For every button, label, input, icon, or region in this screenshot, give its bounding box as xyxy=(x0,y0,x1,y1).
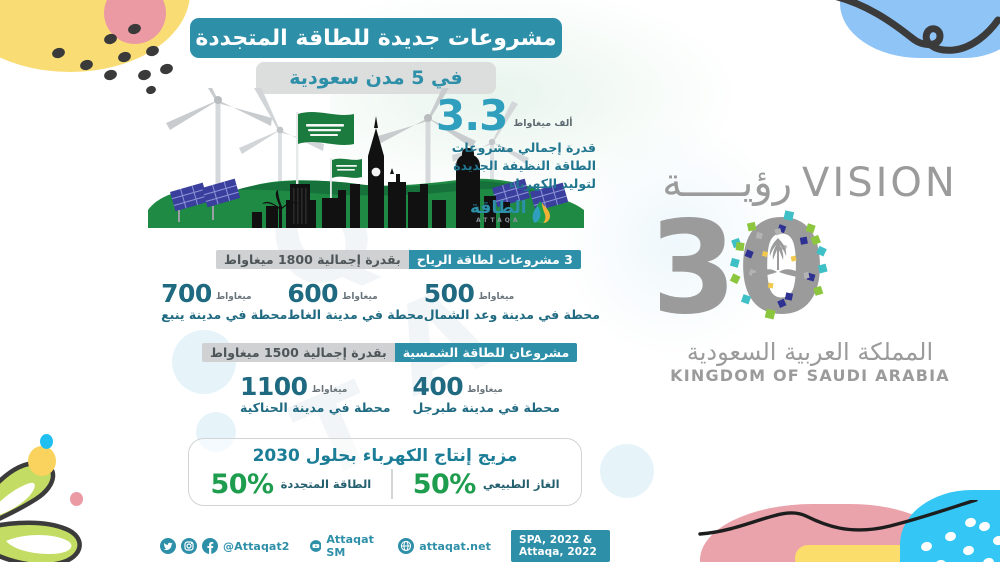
section-label-wind: 3 مشروعات لطاقة الرياح بقدرة إجمالية 180… xyxy=(216,250,581,269)
vision-kingdom-ar: المملكة العربية السعودية xyxy=(660,338,960,366)
stat-place: محطة في مدينة وعد الشمال xyxy=(424,307,600,322)
decor-white-dots-bottomright xyxy=(905,512,1000,562)
decor-pink-blob-bottomright xyxy=(700,504,950,562)
website-link[interactable]: attaqat.net xyxy=(419,540,491,553)
infographic-canvas: Q A T مشروعات جديدة xyxy=(0,0,1000,562)
section-wind-title: 3 مشروعات لطاقة الرياح xyxy=(409,250,581,269)
decor-curl-line-topright xyxy=(830,0,1000,64)
hero-number: 3.3 xyxy=(436,96,507,136)
vision-word-en: VISION xyxy=(802,160,958,206)
stat-yanbu: ميغاواط 700 محطة في مدينة ينبع xyxy=(161,282,287,322)
footer-youtube-group[interactable]: Attaqat SM xyxy=(310,533,379,559)
hero-stat: ألف ميغاواط 3.3 قدرة إجمالي مشروعات الطا… xyxy=(436,96,596,193)
stat-place: محطة في مدينة الحناكية xyxy=(240,400,390,415)
mix-item-renewable: الطاقة المتجددة 50% xyxy=(190,471,391,498)
stat-waad-al-shamal: ميغاواط 500 محطة في مدينة وعد الشمال xyxy=(424,282,600,322)
footer-social-group[interactable]: @Attaqat2 xyxy=(160,538,290,554)
hero-desc-line-1: قدرة إجمالي مشروعات xyxy=(436,139,596,157)
svg-text:30: 30 xyxy=(660,202,826,332)
decor-cyan-dot-bottomleft xyxy=(40,434,53,449)
stat-unit: ميغاواط xyxy=(478,292,514,306)
stat-place: محطة في مدينة الغاط xyxy=(287,307,423,322)
decor-blue-blob-topright xyxy=(840,0,1000,58)
globe-icon[interactable] xyxy=(398,538,414,554)
decor-yellow-dot-bottomleft xyxy=(28,446,56,476)
stat-value: 700 xyxy=(161,282,212,306)
attaqa-logo: الطاقة ATTAQA xyxy=(470,200,551,224)
stat-unit: ميغاواط xyxy=(312,385,348,399)
stat-al-hinakiyah: ميغاواط 1100 محطة في مدينة الحناكية xyxy=(240,375,390,415)
stat-value: 400 xyxy=(412,375,463,399)
section-wind-subtitle: بقدرة إجمالية 1800 ميغاواط xyxy=(216,250,409,269)
vision-year-2030: 2 30 xyxy=(660,202,960,332)
stat-value: 600 xyxy=(287,282,338,306)
stat-unit: ميغاواط xyxy=(342,292,378,306)
decor-pink-dot-bottomleft xyxy=(70,492,83,506)
hero-desc-line-2: الطاقة النظيفة الجديدة xyxy=(436,157,596,175)
stat-place: محطة في مدينة ينبع xyxy=(161,307,287,322)
page-title: مشروعات جديدة للطاقة المتجددة xyxy=(190,18,562,58)
mix-title: مزيج إنتاج الكهرباء بحلول 2030 xyxy=(189,446,581,466)
stat-value: 1100 xyxy=(240,375,308,399)
section-solar-title: مشروعان للطاقة الشمسية xyxy=(395,343,578,362)
stat-place: محطة في مدينة طبرجل xyxy=(412,400,560,415)
stat-value: 500 xyxy=(424,282,475,306)
main-content-column: مشروعات جديدة للطاقة المتجددة في 5 مدن س… xyxy=(140,0,610,562)
source-badge: SPA, 2022 & Attaqa, 2022 xyxy=(511,530,610,562)
wind-stats-row: ميغاواط 500 محطة في مدينة وعد الشمال ميغ… xyxy=(170,282,600,322)
mix-percent: 50% xyxy=(413,471,476,498)
section-label-solar: مشروعان للطاقة الشمسية بقدرة إجمالية 150… xyxy=(202,343,577,362)
electricity-mix-box: مزيج إنتاج الكهرباء بحلول 2030 الغاز الط… xyxy=(188,438,582,506)
vision-2030-logo: VISION رؤيـــــة 2 30 xyxy=(660,160,960,400)
vision-kingdom-en: KINGDOM OF SAUDI ARABIA xyxy=(660,366,960,385)
stat-al-ghat: ميغاواط 600 محطة في مدينة الغاط xyxy=(287,282,423,322)
mix-label: الغاز الطبيعي xyxy=(483,477,560,491)
vision-word-ar: رؤيـــــة xyxy=(662,160,792,206)
youtube-handle[interactable]: Attaqat SM xyxy=(326,533,378,559)
footer-website-group[interactable]: attaqat.net xyxy=(398,538,491,554)
mix-item-natural-gas: الغاز الطبيعي 50% xyxy=(393,471,580,498)
social-handle[interactable]: @Attaqat2 xyxy=(223,540,290,553)
stat-unit: ميغاواط xyxy=(467,385,503,399)
mix-label: الطاقة المتجددة xyxy=(281,477,372,491)
attaqa-name-ar: الطاقة xyxy=(470,200,527,217)
decor-green-leaf-bottomleft xyxy=(0,415,112,562)
solar-stats-row: ميغاواط 400 محطة في مدينة طبرجل ميغاواط … xyxy=(240,375,560,415)
mix-divider xyxy=(391,469,393,499)
attaqa-flame-icon xyxy=(531,200,551,224)
hero-unit: ألف ميغاواط xyxy=(513,118,572,136)
instagram-icon[interactable] xyxy=(181,538,197,554)
footer-bar: @Attaqat2 Attaqat SM attaqat.net xyxy=(160,530,610,562)
stat-unit: ميغاواط xyxy=(216,292,252,306)
mix-percent: 50% xyxy=(210,471,273,498)
youtube-icon[interactable] xyxy=(310,538,322,554)
decor-black-line-bottomright xyxy=(690,500,980,548)
decor-cyan-blob-bottomright xyxy=(900,490,1000,562)
hero-desc-line-3: لتوليد الكهرباء xyxy=(436,175,596,193)
attaqa-name-en: ATTAQA xyxy=(470,217,527,224)
twitter-icon[interactable] xyxy=(160,538,176,554)
stat-tabarjal: ميغاواط 400 محطة في مدينة طبرجل xyxy=(412,375,560,415)
decor-yellow-stripe-bottomright xyxy=(795,545,945,562)
section-solar-subtitle: بقدرة إجمالية 1500 ميغاواط xyxy=(202,343,395,362)
facebook-icon[interactable] xyxy=(202,538,218,554)
